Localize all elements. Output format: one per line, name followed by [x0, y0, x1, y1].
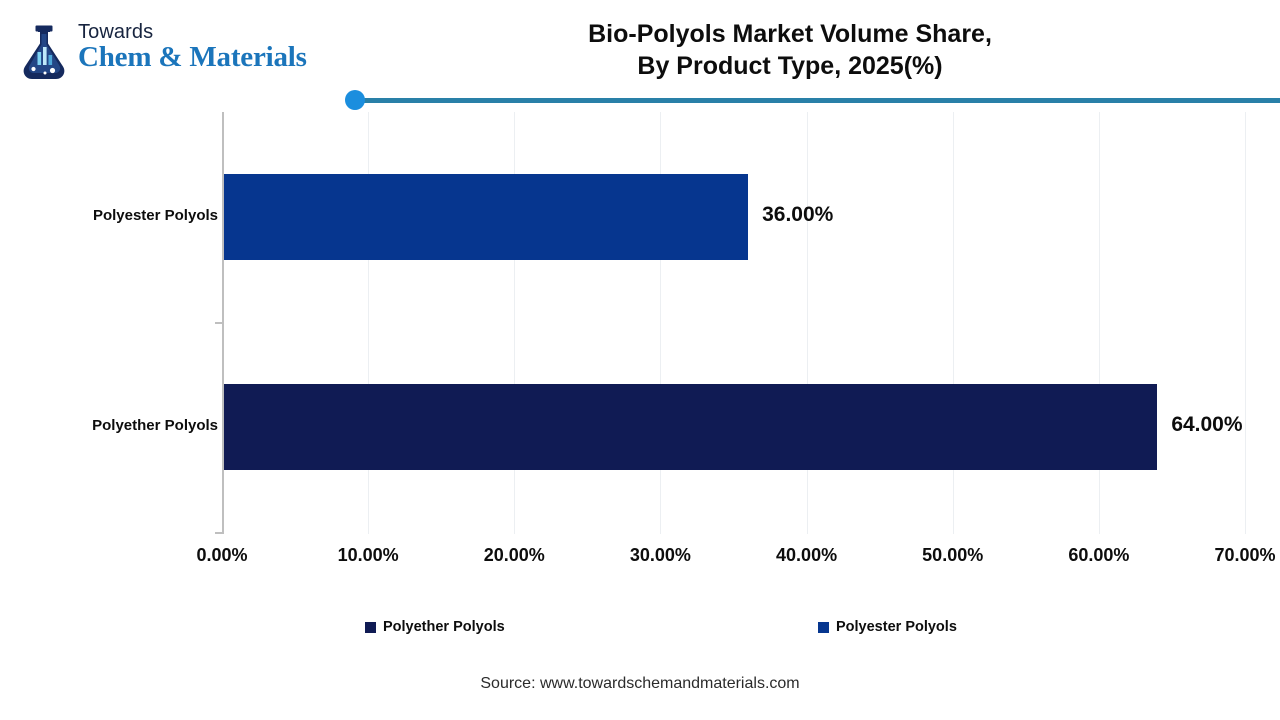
legend-swatch-icon — [818, 622, 829, 633]
chart-title-line-2: By Product Type, 2025(%) — [440, 50, 1140, 82]
bar-polyester-polyols — [222, 174, 748, 260]
gridline — [953, 112, 954, 534]
x-axis-tick-label: 50.00% — [922, 545, 983, 566]
x-axis-tick-label: 10.00% — [338, 545, 399, 566]
chart-legend: Polyether PolyolsPolyester Polyols — [0, 619, 1280, 643]
legend-label: Polyether Polyols — [383, 619, 505, 635]
brand-line-2: Chem & Materials — [78, 43, 307, 72]
bar-value-label: 36.00% — [762, 203, 833, 227]
x-axis-tick-label: 60.00% — [1068, 545, 1129, 566]
x-axis-tick-label: 40.00% — [776, 545, 837, 566]
brand-line-1: Towards — [78, 22, 307, 42]
legend-swatch-icon — [365, 622, 376, 633]
x-axis-tick-label: 0.00% — [196, 545, 247, 566]
legend-label: Polyester Polyols — [836, 619, 957, 635]
bar-polyether-polyols — [222, 384, 1157, 470]
source-note: Source: www.towardschemandmaterials.com — [0, 675, 1280, 693]
chart-title: Bio-Polyols Market Volume Share, By Prod… — [440, 18, 1140, 82]
legend-item[interactable]: Polyester Polyols — [818, 619, 957, 635]
flask-bar-chart-icon — [18, 22, 70, 82]
decorative-line — [355, 98, 1280, 103]
chart-title-line-1: Bio-Polyols Market Volume Share, — [440, 18, 1140, 50]
x-axis-tick-label: 70.00% — [1214, 545, 1275, 566]
brand-wordmark: Towards Chem & Materials — [78, 22, 307, 72]
category-label: Polyether Polyols — [92, 417, 218, 434]
decorative-rule — [345, 97, 1280, 104]
gridline — [1245, 112, 1246, 534]
y-axis-line — [222, 112, 224, 534]
gridline — [807, 112, 808, 534]
x-axis-tick-label: 20.00% — [484, 545, 545, 566]
decorative-dot-icon — [345, 90, 365, 110]
bar-value-label: 64.00% — [1171, 413, 1242, 437]
brand-logo: Towards Chem & Materials — [18, 22, 307, 82]
category-label: Polyester Polyols — [93, 207, 218, 224]
plot-area — [222, 112, 1245, 534]
x-axis-tick-label: 30.00% — [630, 545, 691, 566]
y-axis-tick-bottom — [215, 532, 222, 534]
y-axis-tick-middle — [215, 322, 222, 324]
gridline — [1099, 112, 1100, 534]
chart-page: Towards Chem & Materials Bio-Polyols Mar… — [0, 0, 1280, 720]
legend-item[interactable]: Polyether Polyols — [365, 619, 505, 635]
